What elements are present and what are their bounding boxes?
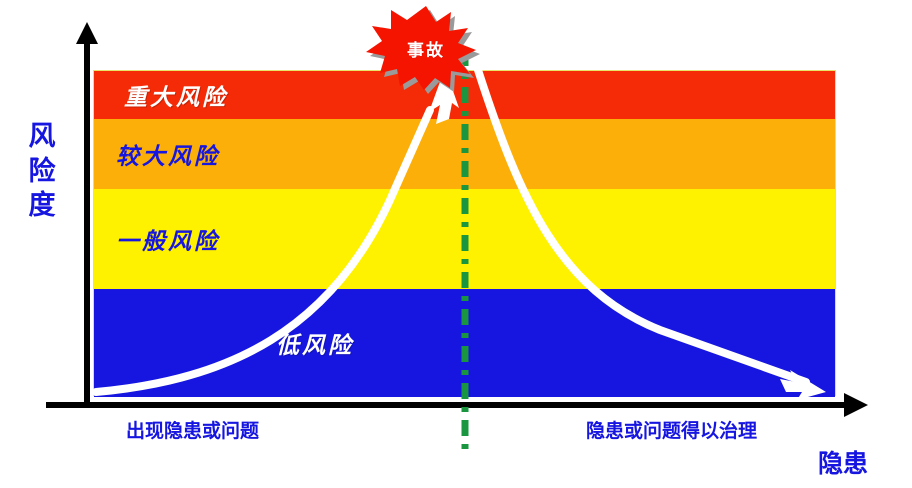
risk-escalation-diagram: 风 险 度 隐患 重大风险 较大风险 一般风险 低风险 <box>0 0 912 488</box>
risk-band-high: 较大风险 <box>94 119 835 189</box>
risk-band-label-high: 较大风险 <box>116 137 220 171</box>
accident-burst-label: 事故 <box>356 2 496 94</box>
y-axis-title-char-3: 度 <box>14 189 70 224</box>
y-axis-arrow-icon <box>76 22 98 44</box>
risk-band-stack: 重大风险 较大风险 一般风险 低风险 <box>93 70 836 396</box>
accident-burst[interactable]: 事故 <box>356 2 496 94</box>
x-axis-arrow-icon <box>844 393 868 417</box>
x-annotation-left: 出现隐患或问题 <box>126 416 259 443</box>
risk-band-label-low: 低风险 <box>276 326 354 360</box>
y-axis-title-char-1: 风 <box>14 120 70 155</box>
risk-band-general: 一般风险 <box>94 189 835 289</box>
risk-band-label-major: 重大风险 <box>124 78 228 112</box>
x-annotation-right: 隐患或问题得以治理 <box>586 416 757 443</box>
y-axis-line <box>84 40 90 408</box>
risk-band-low: 低风险 <box>94 289 835 397</box>
y-axis-title-char-2: 险 <box>14 155 70 190</box>
y-axis-title: 风 险 度 <box>14 120 70 224</box>
x-axis-title: 隐患 <box>818 444 868 480</box>
x-axis-line <box>46 402 846 408</box>
risk-band-label-general: 一般风险 <box>116 222 220 256</box>
